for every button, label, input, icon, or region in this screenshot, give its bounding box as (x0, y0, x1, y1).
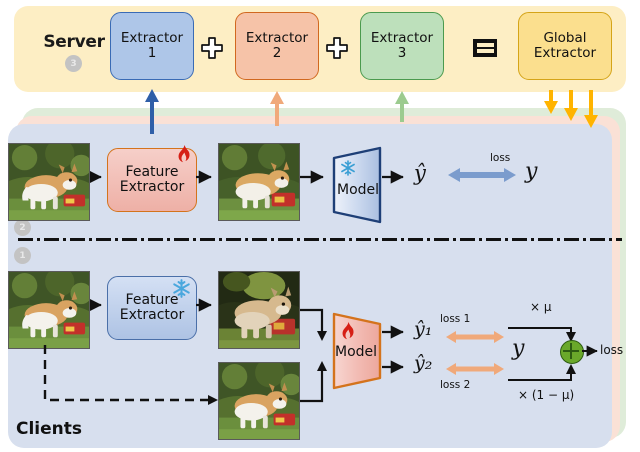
upload-arrow-3 (395, 91, 409, 122)
dashed-skip-connection (40, 345, 225, 407)
input-image-bottom (8, 271, 90, 349)
global-extractor-label: Global Extractor (534, 31, 596, 61)
extractor-3-label: Extractor 3 (371, 31, 433, 61)
server-label: Server (30, 32, 118, 52)
global-extractor-box[interactable]: Global Extractor (518, 12, 612, 80)
server-step-badge: 3 (65, 55, 82, 72)
loss-label-top: loss (490, 152, 510, 164)
arrow-image-to-model-top (300, 170, 330, 184)
loss2-double-arrow (444, 360, 506, 378)
row-top-step-badge: 2 (14, 219, 31, 236)
original-image-bottom-branch (218, 362, 300, 440)
extractor-1-label: Extractor 1 (121, 31, 183, 61)
loss2-label: loss 2 (440, 379, 470, 391)
styled-feature-image-bottom (218, 271, 300, 349)
prediction-yhat-top: ŷ (414, 161, 426, 185)
upload-arrow-2 (270, 91, 284, 126)
download-arrow-2 (564, 90, 578, 121)
plus-icon-1 (200, 36, 224, 60)
model-top-label: Model (337, 182, 379, 198)
arrow-input-to-fe-top (90, 170, 108, 184)
feature-extractor-top-label: Feature Extractor (120, 165, 184, 196)
plus-icon-2 (325, 36, 349, 60)
download-arrow-3 (584, 90, 598, 128)
arrow-model-to-yhat2 (382, 360, 410, 374)
input-image-top (8, 143, 90, 221)
transfer-arrows-layer (0, 88, 640, 134)
snowflake-icon-fe-bottom (172, 279, 191, 298)
row-divider (18, 238, 622, 241)
weight-one-minus-mu-label: × (1 − μ) (518, 388, 574, 402)
arrows-images-to-model-bottom (300, 300, 334, 410)
sum-node-icon (560, 340, 584, 364)
extractor-2-label: Extractor 2 (246, 31, 308, 61)
arrow-fe-to-image-bottom (196, 298, 218, 312)
model-bottom-label: Model (335, 344, 377, 360)
arrow-model-to-yhat-top (382, 170, 410, 184)
model-bottom[interactable]: Model (330, 312, 388, 390)
download-arrow-1 (544, 90, 558, 114)
upload-arrow-1 (145, 89, 159, 134)
loss1-double-arrow (444, 328, 506, 346)
total-loss-label: loss (600, 343, 623, 357)
extractor-1-box[interactable]: Extractor 1 (110, 12, 194, 80)
fire-icon-fe-top (176, 145, 193, 165)
prediction-yhat2: ŷ₂ (414, 352, 432, 374)
equals-icon (473, 39, 497, 57)
prediction-yhat1: ŷ₁ (414, 318, 432, 340)
feature-image-top (218, 143, 300, 221)
loss-double-arrow-top (446, 164, 518, 186)
target-y-top: y (525, 159, 537, 184)
row-bottom-step-badge: 1 (14, 247, 31, 264)
snowflake-icon-model-top (340, 160, 356, 176)
extractor-3-box[interactable]: Extractor 3 (360, 12, 444, 80)
arrow-model-to-yhat1 (382, 325, 410, 339)
arrow-input-to-fe-bottom (90, 298, 108, 312)
fire-icon-model-bottom (340, 322, 357, 342)
arrow-fe-to-image-top (196, 170, 218, 184)
extractor-2-box[interactable]: Extractor 2 (235, 12, 319, 80)
weight-mu-label: × μ (530, 300, 552, 314)
clients-label: Clients (16, 419, 82, 439)
loss1-label: loss 1 (440, 313, 470, 325)
model-top[interactable]: Model (328, 146, 386, 224)
